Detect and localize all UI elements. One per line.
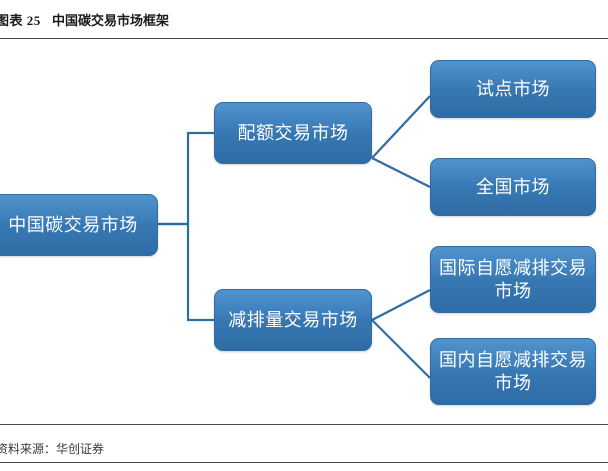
figure-title: 中国碳交易市场框架	[52, 10, 169, 29]
figure-header: 图表 25 中国碳交易市场框架	[0, 8, 608, 32]
node-reduction-market[interactable]: 减排量交易市场	[214, 289, 372, 351]
node-pilot-market-label: 试点市场	[470, 78, 556, 101]
figure-footer: 资料来源：华创证券	[0, 440, 608, 460]
node-root[interactable]: 中国碳交易市场	[0, 194, 158, 256]
node-reduction-market-label: 减排量交易市场	[222, 309, 364, 332]
diagram-canvas: 中国碳交易市场 配额交易市场 减排量交易市场 试点市场 全国市场 国际自愿减排交…	[0, 38, 608, 424]
node-national-market[interactable]: 全国市场	[430, 158, 596, 216]
node-international-voluntary-market-label: 国际自愿减排交易市场	[431, 257, 595, 302]
source-note: 资料来源：华创证券	[0, 440, 104, 457]
node-quota-market[interactable]: 配额交易市场	[214, 102, 372, 164]
node-root-label: 中国碳交易市场	[2, 214, 144, 237]
node-international-voluntary-market[interactable]: 国际自愿减排交易市场	[430, 246, 596, 313]
diagram-bottom-divider	[0, 424, 608, 425]
node-national-market-label: 全国市场	[470, 176, 556, 199]
node-quota-market-label: 配额交易市场	[232, 122, 355, 145]
figure-label: 图表 25	[0, 10, 41, 29]
node-pilot-market[interactable]: 试点市场	[430, 60, 596, 118]
footer-divider	[0, 462, 608, 463]
node-domestic-voluntary-market-label: 国内自愿减排交易市场	[431, 349, 595, 394]
node-domestic-voluntary-market[interactable]: 国内自愿减排交易市场	[430, 338, 596, 405]
